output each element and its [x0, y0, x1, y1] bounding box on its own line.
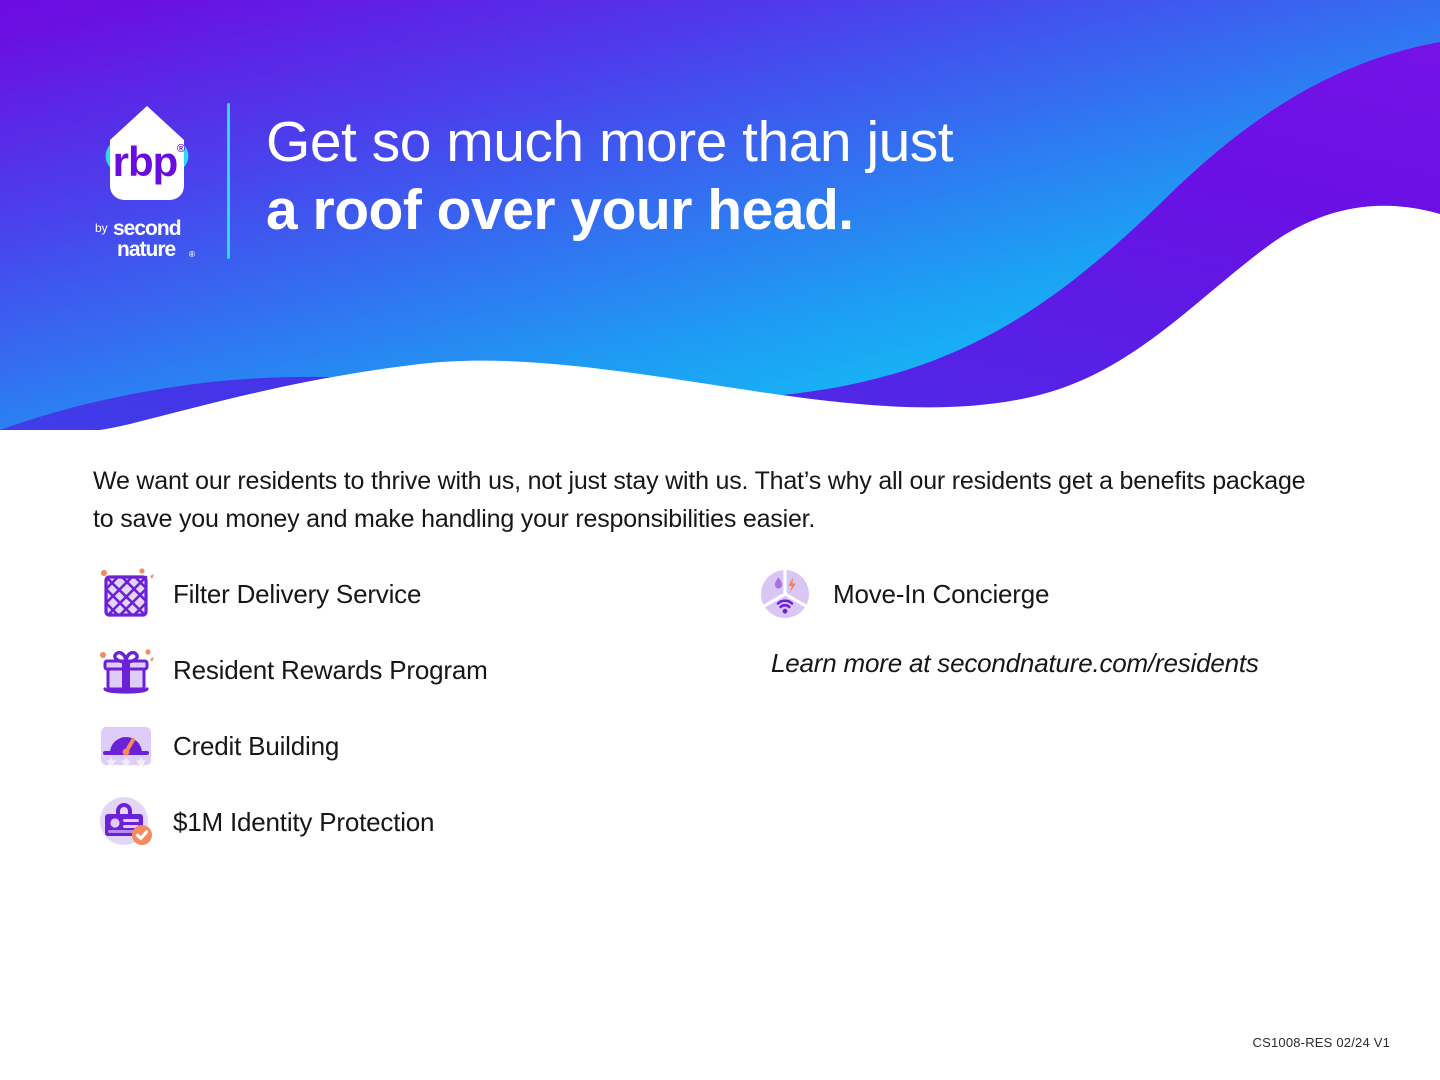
benefits-column-left: Filter Delivery Service Resident Rewards: [95, 556, 715, 860]
flyer-page: rbp ® by second nature ® Get so much mor…: [0, 0, 1440, 1080]
benefits-column-right: Move-In Concierge Learn more at secondna…: [755, 556, 1375, 679]
learn-more-link[interactable]: Learn more at secondnature.com/residents: [771, 648, 1375, 679]
rbp-logo-byline: by second nature ®: [88, 217, 206, 263]
id-badge-lock-icon: [95, 793, 157, 851]
benefit-filter-delivery-service: Filter Delivery Service: [95, 556, 715, 632]
benefit-resident-rewards-program: Resident Rewards Program: [95, 632, 715, 708]
benefit-label: Filter Delivery Service: [173, 579, 421, 610]
air-filter-icon: [95, 565, 157, 623]
svg-text:®: ®: [189, 250, 195, 259]
page-headline: Get so much more than just a roof over y…: [266, 108, 1166, 244]
headline-line-2: a roof over your head.: [266, 176, 1166, 244]
document-code: CS1008-RES 02/24 V1: [1253, 1035, 1391, 1050]
svg-text:nature: nature: [117, 238, 176, 261]
credit-gauge-icon: [95, 717, 157, 775]
benefit-label: Resident Rewards Program: [173, 655, 488, 686]
benefit-label: Move-In Concierge: [833, 579, 1049, 610]
benefit-credit-building: Credit Building: [95, 708, 715, 784]
benefit-move-in-concierge: Move-In Concierge: [755, 556, 1375, 632]
header-divider: [227, 103, 230, 259]
svg-text:by: by: [95, 221, 108, 235]
benefit-identity-protection: $1M Identity Protection: [95, 784, 715, 860]
svg-text:second: second: [113, 217, 181, 240]
svg-text:®: ®: [177, 143, 185, 155]
svg-text:rbp: rbp: [113, 138, 178, 185]
benefit-label: $1M Identity Protection: [173, 807, 434, 838]
utilities-pie-icon: [755, 565, 817, 623]
rbp-logo: rbp ® by second nature ®: [88, 100, 206, 260]
rbp-logo-mark: rbp ®: [95, 100, 199, 212]
headline-line-1: Get so much more than just: [266, 108, 1166, 176]
gift-box-icon: [95, 641, 157, 699]
intro-paragraph: We want our residents to thrive with us,…: [93, 462, 1323, 538]
benefit-label: Credit Building: [173, 731, 339, 762]
